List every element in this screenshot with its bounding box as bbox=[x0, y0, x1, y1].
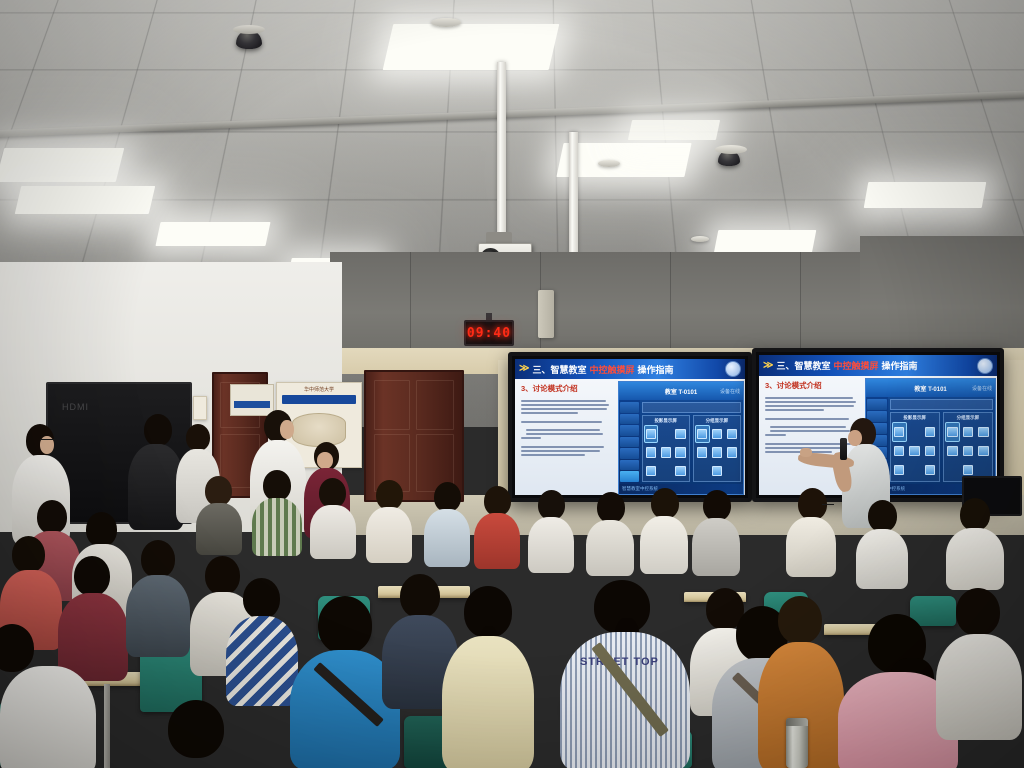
attendee-torso bbox=[692, 518, 740, 576]
sidebar-tab-active[interactable] bbox=[620, 471, 639, 482]
control-panel-stage: 投影显示屏 bbox=[888, 397, 996, 483]
control-panel-column-left: 投影显示屏 bbox=[642, 415, 690, 482]
device-tile[interactable] bbox=[645, 444, 658, 460]
attendee-head bbox=[778, 596, 822, 644]
attendee-head bbox=[263, 470, 291, 501]
device-tile[interactable] bbox=[674, 444, 687, 460]
classroom-photo: 09:40 ≫ 三、智慧教室 中控触摸屏 操作指南 3、讨论模式介绍 bbox=[0, 0, 1024, 768]
slide-title-part3: 操作指南 bbox=[638, 363, 674, 376]
sidebar-tab[interactable] bbox=[620, 414, 639, 425]
ceiling-light-panel bbox=[714, 230, 817, 254]
device-tile[interactable] bbox=[711, 463, 724, 479]
slide-title-part3: 操作指南 bbox=[882, 359, 918, 372]
attendee-head bbox=[86, 512, 117, 547]
attendee-torso bbox=[856, 529, 908, 589]
attendee-torso bbox=[310, 505, 356, 559]
slide-title-part2: 中控触摸屏 bbox=[589, 363, 634, 376]
ceiling-light-panel bbox=[15, 186, 155, 214]
device-tile[interactable] bbox=[923, 423, 936, 440]
device-tile[interactable] bbox=[711, 444, 724, 460]
attendee-seated bbox=[442, 586, 534, 768]
control-panel-main: 投影显示屏 bbox=[619, 400, 743, 484]
attendee-head bbox=[960, 498, 990, 531]
attendee-face bbox=[280, 420, 294, 439]
device-tile[interactable] bbox=[725, 444, 738, 460]
attendee-head bbox=[243, 578, 280, 619]
attendee-seated bbox=[856, 500, 908, 582]
device-tile[interactable] bbox=[946, 423, 959, 440]
attendee-seated bbox=[146, 700, 250, 768]
attendee-head bbox=[186, 424, 210, 451]
attendee-seated bbox=[936, 588, 1022, 734]
attendee-head bbox=[37, 500, 67, 534]
control-panel-header: 教室 T-0101 设备在线 bbox=[866, 379, 995, 397]
attendee-seated bbox=[692, 490, 740, 570]
slide-text-column: 3、讨论模式介绍 bbox=[515, 379, 617, 495]
attendee-torso bbox=[474, 513, 520, 569]
slide-section-heading: 3、讨论模式介绍 bbox=[765, 380, 860, 391]
attendee-torso bbox=[196, 503, 242, 555]
device-tile[interactable] bbox=[696, 444, 709, 460]
wall-speaker bbox=[538, 290, 554, 338]
attendee-torso bbox=[424, 509, 470, 567]
slide-title-bar: ≫ 三、智慧教室 中控触摸屏 操作指南 bbox=[515, 359, 745, 379]
slide-title-part2: 中控触摸屏 bbox=[833, 359, 878, 372]
dome-camera-icon bbox=[236, 30, 262, 49]
attendee-seated-street-top: STREET TOP bbox=[560, 580, 690, 768]
attendee-head bbox=[538, 490, 565, 520]
attendee-seated bbox=[310, 478, 356, 552]
slide-section-heading: 3、讨论模式介绍 bbox=[521, 383, 613, 394]
device-grid-right bbox=[696, 424, 738, 479]
slide-left: ≫ 三、智慧教室 中控触摸屏 操作指南 3、讨论模式介绍 bbox=[515, 359, 745, 495]
attendee-torso bbox=[786, 517, 836, 577]
sidebar-tab[interactable] bbox=[620, 448, 639, 459]
glasses-icon bbox=[40, 439, 55, 444]
device-grid-left bbox=[645, 424, 687, 479]
device-tile[interactable] bbox=[908, 462, 921, 479]
device-grid-left bbox=[893, 421, 937, 478]
control-panel-device-label: 教室 T-0101 bbox=[665, 387, 697, 396]
attendee-torso bbox=[528, 517, 574, 573]
attendee-seated bbox=[0, 624, 96, 768]
device-tile[interactable] bbox=[961, 423, 974, 440]
slide-title-part1: 三、智慧教室 bbox=[776, 359, 830, 372]
attendee-torso bbox=[560, 632, 690, 768]
attendee-seated bbox=[946, 498, 1004, 584]
thermos-bottle bbox=[786, 718, 808, 768]
slide-title-bar: ≫ 三、智慧教室 中控触摸屏 操作指南 bbox=[759, 355, 997, 376]
microphone-icon bbox=[840, 438, 847, 460]
attendee-face bbox=[317, 452, 333, 469]
attendee-head bbox=[956, 588, 1000, 636]
control-panel-columns: 投影显示屏 bbox=[642, 415, 741, 482]
control-panel-mock: 教室 T-0101 设备在线 bbox=[618, 381, 744, 495]
attendee-head bbox=[205, 476, 232, 506]
chevron-right-icon: ≫ bbox=[519, 364, 529, 374]
attendee-head bbox=[319, 478, 346, 508]
ceiling-light-panel bbox=[864, 182, 987, 208]
device-tile[interactable] bbox=[645, 426, 658, 442]
control-panel-status: 设备在线 bbox=[720, 388, 740, 395]
control-panel-column-right: 分组显示屏 bbox=[943, 412, 993, 481]
attendee-torso bbox=[586, 520, 634, 576]
attendee-torso bbox=[366, 507, 412, 563]
ceiling-light-panel bbox=[383, 24, 560, 70]
attendee-head bbox=[868, 500, 897, 532]
camera-mount-pole bbox=[569, 132, 578, 264]
attendee-head bbox=[484, 486, 511, 516]
attendee-head bbox=[651, 488, 679, 519]
clock-time: 09:40 bbox=[467, 326, 511, 341]
attendee-head bbox=[318, 596, 372, 654]
poster-title: 华中师范大学 bbox=[284, 386, 355, 393]
device-grid-right bbox=[946, 421, 990, 478]
ceiling-light-panel bbox=[0, 148, 124, 182]
attendee-seated bbox=[126, 540, 190, 650]
device-tile[interactable] bbox=[659, 426, 672, 442]
chevron-right-icon: ≫ bbox=[763, 361, 773, 371]
device-tile[interactable] bbox=[725, 426, 738, 442]
control-panel-stage: 投影显示屏 bbox=[640, 400, 743, 484]
sidebar-tab[interactable] bbox=[620, 425, 639, 436]
sidebar-tab[interactable] bbox=[620, 402, 639, 413]
attendee-head bbox=[434, 482, 461, 512]
control-panel-device-label: 教室 T-0101 bbox=[914, 384, 946, 393]
attendee-torso bbox=[126, 575, 190, 657]
device-tile[interactable] bbox=[696, 426, 709, 442]
attendee-head bbox=[376, 480, 403, 510]
device-tile[interactable] bbox=[725, 463, 738, 479]
device-tile[interactable] bbox=[674, 426, 687, 442]
wall-led-clock: 09:40 bbox=[464, 320, 514, 346]
attendee-seated-patterned bbox=[226, 578, 298, 698]
ceiling-light-panel bbox=[628, 120, 720, 140]
dome-camera-icon bbox=[718, 150, 740, 166]
attendee-torso bbox=[0, 666, 96, 768]
attendee-head bbox=[144, 414, 172, 446]
camera-mount-pole bbox=[497, 62, 506, 240]
control-panel-header: 教室 T-0101 设备在线 bbox=[619, 382, 743, 400]
ceiling-light-panel bbox=[155, 222, 270, 246]
control-panel-toolbar bbox=[890, 399, 994, 410]
attendee-head bbox=[0, 624, 34, 672]
device-tile[interactable] bbox=[923, 443, 936, 460]
attendee-torso bbox=[946, 528, 1004, 590]
control-panel-column-right: 分组显示屏 bbox=[693, 415, 741, 482]
back-wall-upper-right bbox=[860, 236, 1024, 366]
slide-logo-badge bbox=[725, 361, 741, 377]
device-tile[interactable] bbox=[659, 444, 672, 460]
attendee-head bbox=[141, 540, 175, 578]
control-panel-columns: 投影显示屏 bbox=[890, 412, 994, 481]
attendee-head bbox=[12, 536, 45, 573]
attendee-seated bbox=[424, 482, 470, 560]
poster-caption-band bbox=[282, 395, 356, 404]
attendee-torso bbox=[252, 498, 302, 556]
device-tile[interactable] bbox=[696, 463, 709, 479]
sidebar-tab[interactable] bbox=[620, 437, 639, 448]
attendee-seated bbox=[366, 480, 412, 556]
attendee-seated bbox=[586, 492, 634, 570]
attendee-torso bbox=[226, 616, 298, 706]
slide-logo-badge bbox=[977, 358, 993, 374]
device-tile[interactable] bbox=[711, 426, 724, 442]
device-tile[interactable] bbox=[977, 423, 990, 440]
attendee-seated bbox=[640, 488, 688, 568]
smoke-detector-icon bbox=[691, 236, 709, 242]
attendee-seated bbox=[252, 470, 302, 550]
attendee-torso bbox=[936, 634, 1022, 740]
smoke-detector-icon bbox=[598, 160, 620, 167]
sidebar-tab[interactable] bbox=[620, 460, 639, 471]
attendee-head bbox=[400, 574, 440, 618]
smoke-detector-icon bbox=[431, 18, 461, 27]
attendee-head bbox=[703, 490, 731, 521]
attendee-seated bbox=[786, 488, 836, 572]
control-panel-status: 设备在线 bbox=[972, 385, 992, 392]
device-tile[interactable] bbox=[908, 443, 921, 460]
attendee-head bbox=[74, 556, 110, 596]
attendee-seated bbox=[528, 490, 574, 566]
device-tile[interactable] bbox=[923, 462, 936, 479]
attendee-head bbox=[168, 700, 224, 758]
control-panel-toolbar bbox=[642, 402, 741, 413]
attendee-seated bbox=[474, 486, 520, 562]
attendee-torso bbox=[640, 516, 688, 574]
panel-label: HDMI bbox=[62, 402, 89, 412]
sidebar-tab[interactable] bbox=[867, 399, 886, 410]
slide-body: 3、讨论模式介绍 教室 T-0101 bbox=[515, 379, 745, 495]
device-tile[interactable] bbox=[908, 423, 921, 440]
device-tile[interactable] bbox=[674, 463, 687, 479]
glasses-icon bbox=[822, 504, 834, 509]
attendee-head bbox=[597, 492, 625, 523]
device-tile[interactable] bbox=[659, 463, 672, 479]
device-tile[interactable] bbox=[961, 443, 974, 460]
device-tile[interactable] bbox=[977, 443, 990, 460]
attendee-seated bbox=[196, 476, 242, 548]
slide-panel-column: 教室 T-0101 设备在线 bbox=[617, 379, 745, 495]
control-panel-sidebar bbox=[619, 400, 640, 484]
slide-title-part1: 三、智慧教室 bbox=[532, 363, 586, 376]
device-tile[interactable] bbox=[946, 443, 959, 460]
wall-notice-left bbox=[193, 396, 207, 420]
display-screen-left[interactable]: ≫ 三、智慧教室 中控触摸屏 操作指南 3、讨论模式介绍 bbox=[508, 352, 752, 502]
device-tile[interactable] bbox=[946, 462, 959, 479]
attendee-torso bbox=[442, 636, 534, 768]
desk-leg bbox=[104, 684, 110, 768]
device-tile[interactable] bbox=[645, 463, 658, 479]
